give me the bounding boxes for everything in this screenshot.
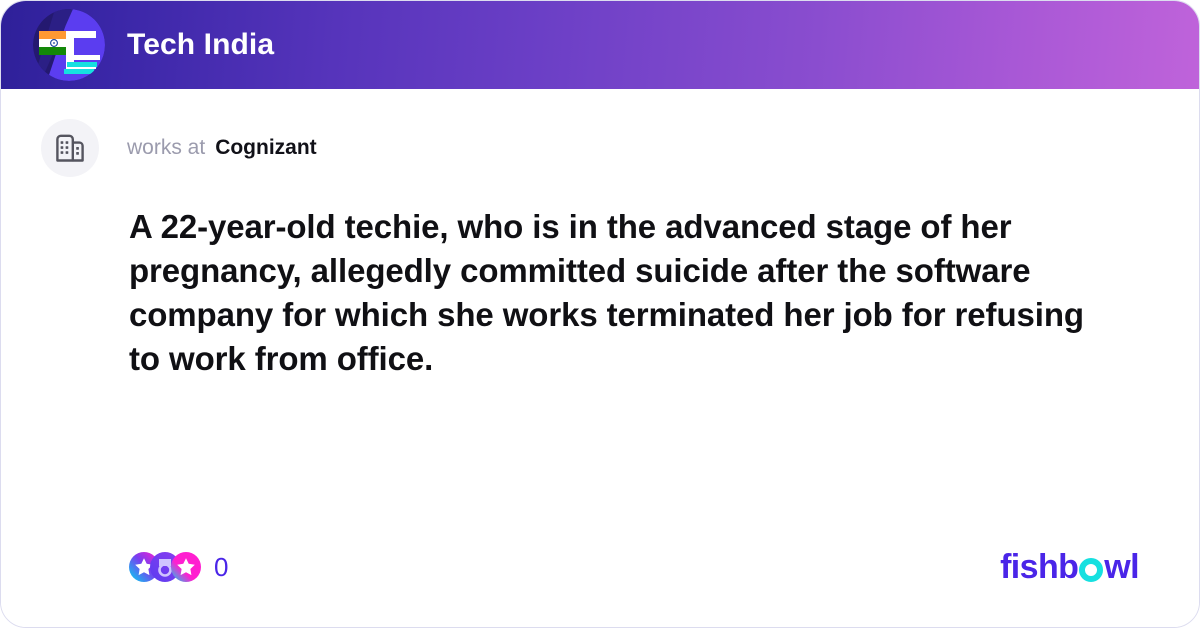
reaction-count: 0 <box>214 552 228 583</box>
card-body: works at Cognizant A 22-year-old techie,… <box>1 89 1199 627</box>
brand-text-part2: wl <box>1104 550 1139 584</box>
company-name[interactable]: Cognizant <box>215 136 316 160</box>
fishbowl-logo: fishb wl <box>1000 550 1139 584</box>
bowl-name: Tech India <box>127 28 274 62</box>
cyan-circle-o-icon <box>1079 558 1103 582</box>
star-reaction-icon <box>171 552 201 582</box>
bowl-avatar[interactable] <box>33 9 105 81</box>
author-meta-text: works at Cognizant <box>127 136 317 160</box>
building-icon-wrap <box>41 119 99 177</box>
reaction-badge-stack[interactable] <box>129 552 192 582</box>
reactions-group[interactable]: 0 <box>129 552 228 583</box>
brand-text-part1: fishb <box>1000 550 1078 584</box>
tech-india-bowl-avatar <box>33 9 105 81</box>
works-at-label: works at <box>127 136 205 160</box>
card-footer: 0 fishb wl <box>1 543 1199 591</box>
card-header: Tech India <box>1 1 1199 89</box>
post-body-text: A 22-year-old techie, who is in the adva… <box>129 205 1113 381</box>
author-meta-row: works at Cognizant <box>41 117 1143 179</box>
reaction-badge-star-magenta[interactable] <box>171 552 201 582</box>
post-card: Tech India <box>0 0 1200 628</box>
building-icon <box>53 131 87 165</box>
